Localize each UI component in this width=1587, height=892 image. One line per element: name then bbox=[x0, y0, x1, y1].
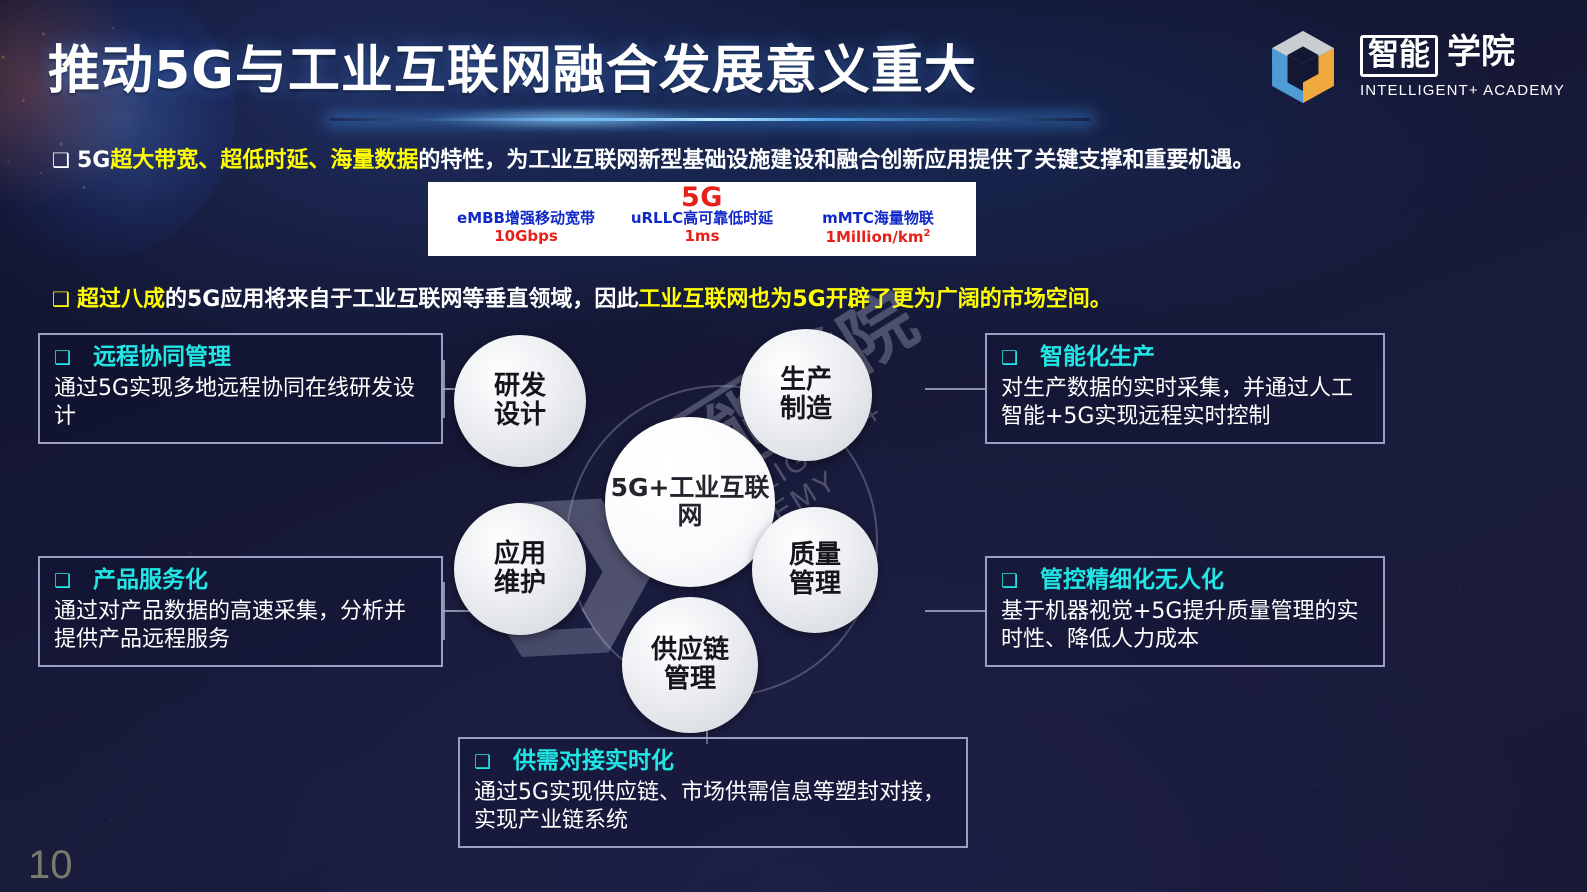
banner-value-urllc: 1ms bbox=[614, 228, 790, 245]
brand-chinese-name: 智能 学院 bbox=[1360, 35, 1515, 76]
info-box-remote-collaboration: ❑ 远程协同管理 通过5G实现多地远程协同在线研发设计 bbox=[38, 333, 443, 444]
bullet-1-seg-2: 的特性，为工业互联网新型基础设施建设和融合创新应用提供了关键支撑和重要机遇。 bbox=[418, 148, 1254, 173]
banner-title: 5G bbox=[681, 184, 723, 212]
page-title: 推动5G与工业互联网融合发展意义重大 bbox=[48, 28, 977, 103]
five-g-capability-banner: 5G eMBB增强移动宽带 10Gbps uRLLC高可靠低时延 1ms mMT… bbox=[428, 182, 976, 256]
wheel-node-maintenance-label: 应用 维护 bbox=[494, 540, 546, 598]
banner-columns: eMBB增强移动宽带 10Gbps uRLLC高可靠低时延 1ms mMTC海量… bbox=[428, 210, 976, 246]
info-box-supply-header: ❑ 供需对接实时化 bbox=[474, 748, 952, 776]
wheel-node-maintenance[interactable]: 应用 维护 bbox=[454, 503, 586, 635]
info-box-control-body: 基于机器视觉+5G提升质量管理的实时性、降低人力成本 bbox=[1001, 598, 1369, 654]
wheel-node-rd[interactable]: 研发 设计 bbox=[454, 335, 586, 467]
wheel-center-node: 5G+工业互联网 bbox=[605, 417, 775, 587]
info-box-product-servitization: ❑ 产品服务化 通过对产品数据的高速采集，分析并提供产品远程服务 bbox=[38, 556, 443, 667]
info-box-service-header: ❑ 产品服务化 bbox=[54, 567, 427, 595]
slide-canvas: 推动5G与工业互联网融合发展意义重大 智能 学院 INTELLIGENT+ AC… bbox=[0, 0, 1587, 892]
brand-english-name: INTELLIGENT+ ACADEMY bbox=[1360, 82, 1565, 99]
info-box-control-marker: ❑ bbox=[1001, 570, 1018, 593]
bullet-1-seg-0: 5G bbox=[77, 148, 110, 173]
banner-value-mmtc-text: 1Million/km bbox=[826, 228, 924, 246]
wheel-node-production-label: 生产 制造 bbox=[780, 366, 832, 424]
banner-label-embb: eMBB增强移动宽带 bbox=[438, 210, 614, 227]
cube-logo-icon bbox=[1260, 24, 1346, 110]
banner-label-urllc: uRLLC高可靠低时延 bbox=[614, 210, 790, 227]
banner-value-mmtc: 1Million/km2 bbox=[790, 228, 966, 246]
light-streak-decoration bbox=[330, 118, 1090, 121]
banner-column-urllc: uRLLC高可靠低时延 1ms bbox=[614, 210, 790, 246]
bullet-2-seg-0: 超过八成 bbox=[77, 287, 165, 312]
five-g-industrial-internet-wheel: 5G+工业互联网 研发 设计 生产 制造 质量 管理 供应链 管理 应用 维护 bbox=[440, 325, 1000, 755]
brand-text-block: 智能 学院 INTELLIGENT+ ACADEMY bbox=[1360, 35, 1565, 98]
brand-plain-chars: 学院 bbox=[1447, 35, 1515, 69]
info-box-remote-marker: ❑ bbox=[54, 347, 71, 370]
bullet-marker-1: ❑ bbox=[52, 148, 70, 172]
info-box-supply-body: 通过5G实现供应链、市场供需信息等塑封对接，实现产业链系统 bbox=[474, 779, 952, 835]
brand-boxed-chars: 智能 bbox=[1360, 35, 1438, 76]
info-box-supply-marker: ❑ bbox=[474, 751, 491, 774]
wheel-center-label: 5G+工业互联网 bbox=[605, 474, 775, 530]
wheel-node-supply-chain-label: 供应链 管理 bbox=[651, 636, 729, 694]
wheel-node-quality[interactable]: 质量 管理 bbox=[752, 507, 878, 633]
info-box-supply-demand-realtime: ❑ 供需对接实时化 通过5G实现供应链、市场供需信息等塑封对接，实现产业链系统 bbox=[458, 737, 968, 848]
info-box-refined-control: ❑ 管控精细化无人化 基于机器视觉+5G提升质量管理的实时性、降低人力成本 bbox=[985, 556, 1385, 667]
info-box-service-title: 产品服务化 bbox=[93, 567, 208, 595]
info-box-smart-header: ❑ 智能化生产 bbox=[1001, 344, 1369, 372]
info-box-service-marker: ❑ bbox=[54, 570, 71, 593]
banner-column-embb: eMBB增强移动宽带 10Gbps bbox=[438, 210, 614, 246]
info-box-control-header: ❑ 管控精细化无人化 bbox=[1001, 567, 1369, 595]
banner-value-mmtc-sup: 2 bbox=[924, 228, 931, 239]
info-box-control-title: 管控精细化无人化 bbox=[1040, 567, 1224, 595]
bullet-marker-2: ❑ bbox=[52, 287, 70, 311]
wheel-node-rd-label: 研发 设计 bbox=[494, 372, 546, 430]
info-box-smart-title: 智能化生产 bbox=[1040, 344, 1155, 372]
info-box-smart-production: ❑ 智能化生产 对生产数据的实时采集，并通过人工智能+5G实现远程实时控制 bbox=[985, 333, 1385, 444]
wheel-node-supply-chain[interactable]: 供应链 管理 bbox=[622, 597, 758, 733]
info-box-smart-body: 对生产数据的实时采集，并通过人工智能+5G实现远程实时控制 bbox=[1001, 375, 1369, 431]
banner-column-mmtc: mMTC海量物联 1Million/km2 bbox=[790, 210, 966, 246]
info-box-remote-title: 远程协同管理 bbox=[93, 344, 231, 372]
light-streak-glow bbox=[430, 108, 710, 130]
bullet-2-seg-1: 的5G应用将来自于工业互联网等垂直领域，因此 bbox=[165, 287, 638, 312]
banner-value-embb: 10Gbps bbox=[438, 228, 614, 245]
bullet-2-seg-2: 工业互联网也为5G开辟了更为广阔的市场空间。 bbox=[638, 287, 1111, 312]
info-box-remote-header: ❑ 远程协同管理 bbox=[54, 344, 427, 372]
info-box-smart-marker: ❑ bbox=[1001, 347, 1018, 370]
bullet-line-2: ❑超过八成的5G应用将来自于工业互联网等垂直领域，因此工业互联网也为5G开辟了更… bbox=[52, 281, 1112, 313]
page-number: 10 bbox=[28, 843, 73, 888]
brand-logo: 智能 学院 INTELLIGENT+ ACADEMY bbox=[1260, 24, 1565, 110]
bullet-line-1: ❑5G超大带宽、超低时延、海量数据的特性，为工业互联网新型基础设施建设和融合创新… bbox=[52, 142, 1254, 174]
bullet-1-seg-1: 超大带宽、超低时延、海量数据 bbox=[110, 148, 418, 173]
wheel-node-production[interactable]: 生产 制造 bbox=[740, 329, 872, 461]
info-box-supply-title: 供需对接实时化 bbox=[513, 748, 674, 776]
info-box-service-body: 通过对产品数据的高速采集，分析并提供产品远程服务 bbox=[54, 598, 427, 654]
wheel-node-quality-label: 质量 管理 bbox=[789, 541, 841, 599]
info-box-remote-body: 通过5G实现多地远程协同在线研发设计 bbox=[54, 375, 427, 431]
banner-label-mmtc: mMTC海量物联 bbox=[790, 210, 966, 227]
